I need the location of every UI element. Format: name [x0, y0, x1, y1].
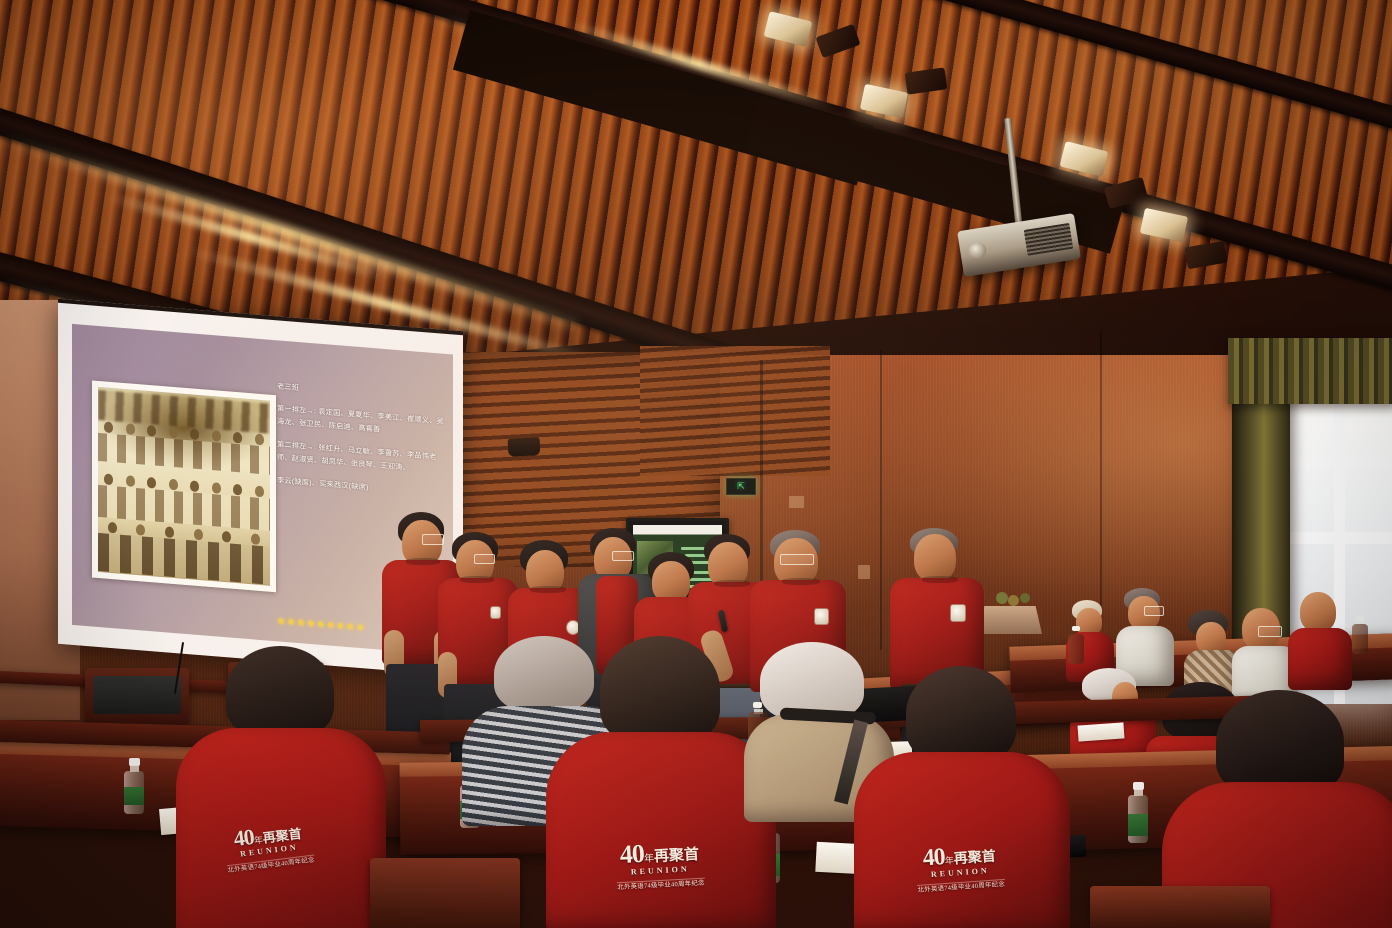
wall-seam [880, 350, 882, 650]
collar [714, 580, 750, 587]
projector-vent [1024, 223, 1074, 256]
hair [600, 636, 720, 744]
shirt-logo: 40年再聚首 REUNION 北外英语74级毕业40周年纪念 [876, 838, 1043, 898]
shirt-logo-chinese: 再聚首 [654, 847, 700, 865]
exit-running-man-icon: ⇱ [737, 482, 745, 491]
chair-back [370, 858, 520, 928]
torso-reunion-shirt: 40年再聚首 REUNION 北外英语74级毕业40周年纪念 [854, 752, 1070, 928]
flower-bouquet [978, 592, 1042, 634]
chair [85, 668, 189, 724]
torso-reunion-shirt: 40年再聚首 REUNION 北外英语74级毕业40周年纪念 [546, 732, 776, 928]
paper-sheet [1077, 722, 1124, 741]
glasses [612, 551, 634, 561]
hair [494, 636, 594, 712]
head [914, 534, 956, 582]
shirt-logo-subtitle: 北外英语74级毕业40周年纪念 [617, 878, 705, 892]
emergency-exit-sign: ⇱ [726, 478, 756, 495]
hair [1216, 690, 1344, 794]
collar [460, 576, 494, 583]
water-bottle [124, 758, 144, 814]
collar [782, 578, 820, 585]
slide-vintage-photo [92, 380, 276, 592]
name-badge [490, 606, 501, 619]
wall-speaker [508, 437, 541, 457]
shirt-logo-number: 40 [232, 826, 255, 850]
name-badge [950, 604, 966, 622]
name-badge [814, 608, 829, 625]
bouquet-foliage [1020, 593, 1030, 603]
slide-star-decoration: ✸✸✸✸✸✸✸✸✸ [277, 616, 366, 634]
wall-plate [858, 565, 870, 579]
torso-red [1288, 628, 1352, 690]
hair [226, 646, 334, 738]
event-photo-scene: ⇱ [0, 0, 1392, 928]
wall-plate [789, 496, 804, 508]
water-bottle [1128, 782, 1148, 844]
slide-paragraph-1: 第一排左→: 袁定国、夏夏华、李美江、崔顺义、吴海龙、张卫民、陈启迪、高喜善 [277, 403, 445, 441]
projector-lens [967, 241, 987, 260]
slide-title: 老三班 [277, 380, 445, 406]
wood-slat-wall-panel [640, 346, 830, 476]
water-bottle [1068, 626, 1084, 666]
water-bottle [1352, 616, 1368, 656]
torso-reunion-shirt: 40年再聚首 REUNION 北外英语74级毕业40周年纪念 [176, 728, 386, 928]
slide-paragraph-3: 李云(缺席)、买来西汉(缺席) [277, 474, 445, 500]
shirt-logo-subtitle: 北外英语74级毕业40周年纪念 [227, 855, 315, 875]
curtain-valance [1228, 338, 1392, 404]
bouquet-foliage [1008, 595, 1019, 606]
shirt-logo-number: 40 [922, 845, 946, 870]
glasses [422, 534, 444, 545]
head-bald [1300, 592, 1336, 632]
collar [406, 558, 440, 565]
hair [906, 666, 1016, 762]
shirt-logo-number: 40 [619, 841, 644, 868]
glasses [1258, 626, 1282, 637]
shirt-logo-subtitle: 北外英语74级毕业40周年纪念 [917, 879, 1005, 894]
collar [530, 586, 566, 593]
glasses [474, 554, 495, 564]
slide-text-block: 老三班 第一排左→: 袁定国、夏夏华、李美江、崔顺义、吴海龙、张卫民、陈启迪、高… [277, 380, 445, 511]
shirt-logo: 40年再聚首 REUNION 北外英语74级毕业40周年纪念 [192, 815, 347, 880]
bouquet-wrapping [978, 606, 1042, 634]
bouquet-foliage [996, 592, 1008, 604]
slide-paragraph-2: 第二排左→: 张红升、马立敏、李蔷苏、李品伟老师、赵淑贤、胡凤华、张良琴、王迎涛… [277, 438, 445, 476]
glasses [780, 554, 814, 565]
chair-back [1090, 886, 1270, 928]
wall-seam [1100, 330, 1102, 610]
shirt-logo: 40年再聚首 REUNION 北外英语74级毕业40周年纪念 [575, 836, 745, 896]
glasses [1144, 606, 1164, 616]
collar [922, 576, 958, 583]
shirt-logo-chinese: 再聚首 [953, 849, 996, 867]
shirt-logo-english: REUNION [576, 863, 744, 880]
